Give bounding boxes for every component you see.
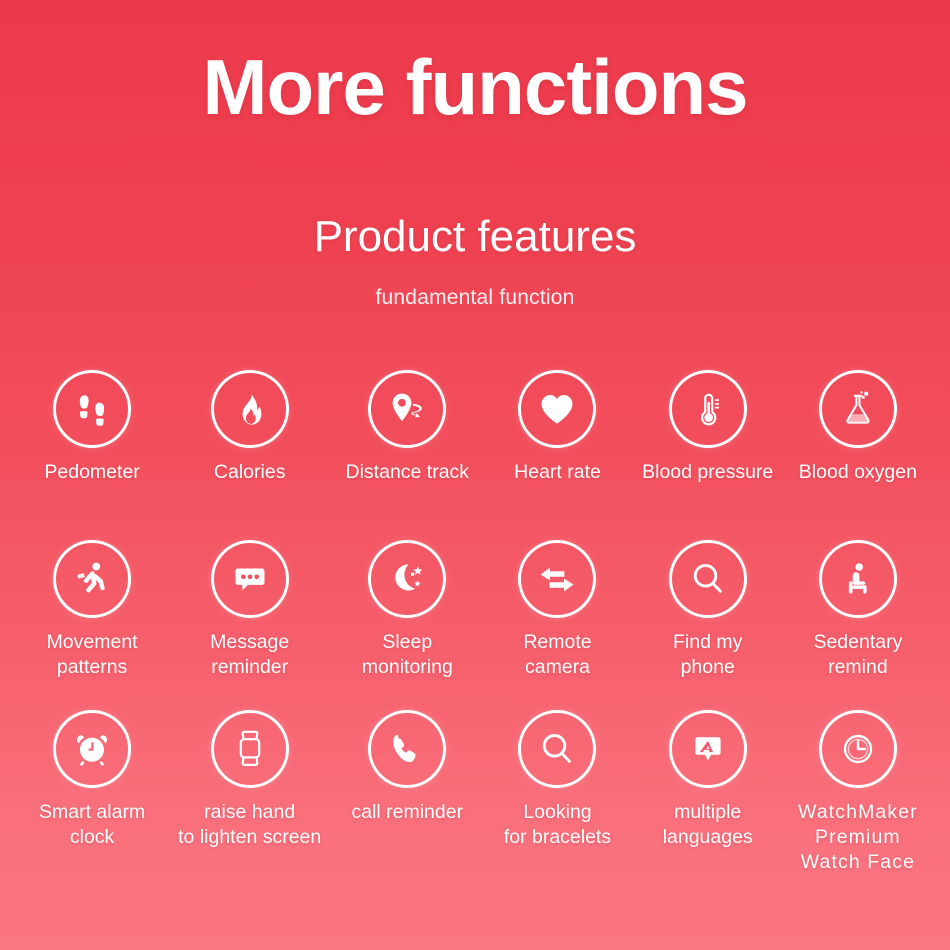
feature-item-label: raise hand to lighten screen xyxy=(167,800,332,850)
chat-bubble-icon xyxy=(211,540,289,618)
feature-item-calories[interactable]: Calories xyxy=(167,370,332,540)
feature-item-looking-for-bracelets[interactable]: Looking for bracelets xyxy=(482,710,632,910)
feature-item-sedentary-remind[interactable]: Sedentary remind xyxy=(783,540,933,710)
feature-item-label: Movement patterns xyxy=(47,630,138,680)
section-subheading: fundamental function xyxy=(0,286,950,310)
feature-item-label: Sedentary remind xyxy=(813,630,902,680)
feature-item-label: Find my phone xyxy=(673,630,742,680)
feature-item-label: WatchMaker Premium Watch Face xyxy=(798,800,918,875)
feature-item-raise-hand-to-lighten-screen[interactable]: raise hand to lighten screen xyxy=(167,710,332,910)
feature-item-label: Sleep monitoring xyxy=(362,630,453,680)
feature-item-label: Pedometer xyxy=(44,460,139,485)
footsteps-icon xyxy=(53,370,131,448)
feature-item-smart-alarm-clock[interactable]: Smart alarm clock xyxy=(17,710,167,910)
feature-item-find-my-phone[interactable]: Find my phone xyxy=(633,540,783,710)
feature-item-label: Looking for bracelets xyxy=(504,800,611,850)
feature-item-remote-camera[interactable]: Remote camera xyxy=(482,540,632,710)
thermometer-icon xyxy=(669,370,747,448)
feature-item-distance-track[interactable]: Distance track xyxy=(332,370,482,540)
flame-icon xyxy=(211,370,289,448)
feature-item-pedometer[interactable]: Pedometer xyxy=(17,370,167,540)
feature-item-label: call reminder xyxy=(351,800,463,825)
flask-icon xyxy=(819,370,897,448)
feature-item-message-reminder[interactable]: Message reminder xyxy=(167,540,332,710)
clock-face-icon xyxy=(819,710,897,788)
map-pin-icon xyxy=(368,370,446,448)
feature-item-blood-oxygen[interactable]: Blood oxygen xyxy=(783,370,933,540)
feature-item-label: Blood pressure xyxy=(642,460,773,485)
feature-item-label: Blood oxygen xyxy=(799,460,917,485)
feature-item-label: Remote camera xyxy=(523,630,591,680)
feature-item-label: Heart rate xyxy=(514,460,601,485)
feature-item-call-reminder[interactable]: call reminder xyxy=(332,710,482,910)
feature-item-movement-patterns[interactable]: Movement patterns xyxy=(17,540,167,710)
two-arrows-icon xyxy=(518,540,596,618)
seated-person-icon xyxy=(819,540,897,618)
feature-item-blood-pressure[interactable]: Blood pressure xyxy=(633,370,783,540)
feature-item-label: Message reminder xyxy=(210,630,289,680)
feature-item-label: multiple languages xyxy=(663,800,753,850)
magnifier-icon xyxy=(518,710,596,788)
magnifier-icon xyxy=(669,540,747,618)
running-person-icon xyxy=(53,540,131,618)
alarm-clock-icon xyxy=(53,710,131,788)
feature-item-label: Distance track xyxy=(346,460,470,485)
feature-item-multiple-languages[interactable]: multiple languages xyxy=(633,710,783,910)
feature-item-label: Smart alarm clock xyxy=(39,800,145,850)
moon-stars-icon xyxy=(368,540,446,618)
feature-item-sleep-monitoring[interactable]: Sleep monitoring xyxy=(332,540,482,710)
phone-handset-icon xyxy=(368,710,446,788)
feature-item-watchmaker-premium-watch-face[interactable]: WatchMaker Premium Watch Face xyxy=(783,710,933,910)
page-title: More functions xyxy=(0,48,950,126)
heart-icon xyxy=(518,370,596,448)
smartwatch-icon xyxy=(211,710,289,788)
feature-item-heart-rate[interactable]: Heart rate xyxy=(482,370,632,540)
feature-item-label: Calories xyxy=(214,460,286,485)
feature-grid: Pedometer Calories Distance track xyxy=(17,370,933,910)
section-heading: Product features xyxy=(0,215,950,259)
language-a-icon xyxy=(669,710,747,788)
